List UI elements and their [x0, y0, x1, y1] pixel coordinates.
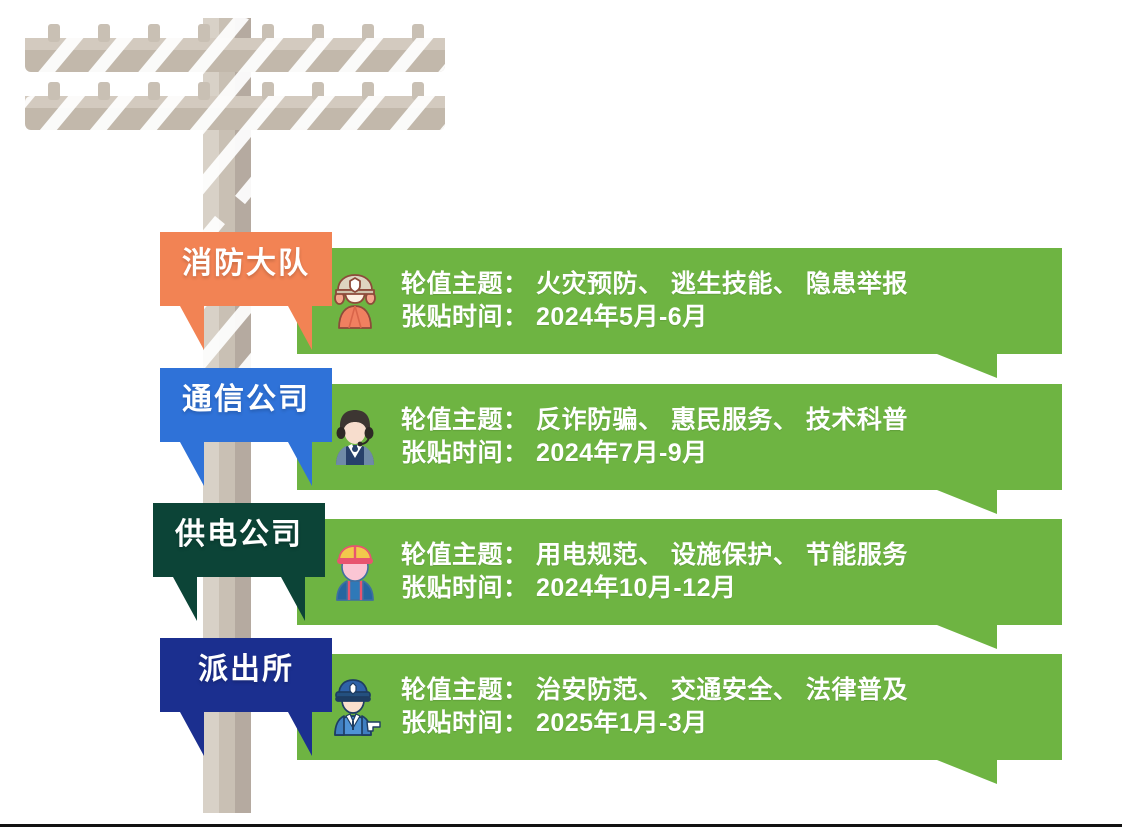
- org-tag-1[interactable]: 消防大队: [160, 232, 332, 362]
- org-tag-label-4: 派出所: [160, 648, 332, 692]
- org-tag-4[interactable]: 派出所: [160, 638, 332, 768]
- call-center-operator-icon: [327, 408, 383, 466]
- banner-text: 轮值主题： 治安防范、 交通安全、 法律普及 张贴时间： 2025年1月-3月: [401, 674, 908, 740]
- banner-content: 轮值主题： 反诈防骗、 惠民服务、 技术科普 张贴时间： 2024年7月-9月: [327, 384, 908, 490]
- org-tag-label-1: 消防大队: [160, 242, 332, 286]
- schedule-row-3: 轮值主题： 用电规范、 设施保护、 节能服务 张贴时间： 2024年10月-12…: [0, 503, 1122, 643]
- theme-line: 轮值主题： 治安防范、 交通安全、 法律普及: [401, 674, 908, 707]
- firefighter-icon: [327, 272, 383, 330]
- time-line: 张贴时间： 2024年7月-9月: [401, 437, 908, 470]
- banner-content: 轮值主题： 治安防范、 交通安全、 法律普及 张贴时间： 2025年1月-3月: [327, 654, 908, 760]
- electrician-worker-icon: [327, 543, 383, 601]
- theme-line: 轮值主题： 火灾预防、 逃生技能、 隐患举报: [401, 268, 908, 301]
- time-line: 张贴时间： 2024年10月-12月: [401, 572, 908, 605]
- police-officer-icon-slot: [327, 678, 383, 736]
- schedule-row-2: 轮值主题： 反诈防骗、 惠民服务、 技术科普 张贴时间： 2024年7月-9月 …: [0, 368, 1122, 508]
- banner-text: 轮值主题： 用电规范、 设施保护、 节能服务 张贴时间： 2024年10月-12…: [401, 539, 908, 605]
- green-banner: 轮值主题： 治安防范、 交通安全、 法律普及 张贴时间： 2025年1月-3月: [297, 654, 1122, 760]
- green-banner: 轮值主题： 火灾预防、 逃生技能、 隐患举报 张贴时间： 2024年5月-6月: [297, 248, 1122, 354]
- time-line: 张贴时间： 2025年1月-3月: [401, 707, 908, 740]
- call-center-operator-icon-slot: [327, 408, 383, 466]
- banner-text: 轮值主题： 反诈防骗、 惠民服务、 技术科普 张贴时间： 2024年7月-9月: [401, 404, 908, 470]
- police-officer-icon: [327, 678, 385, 736]
- firefighter-icon-slot: [327, 272, 383, 330]
- electrician-worker-icon-slot: [327, 543, 383, 601]
- theme-line: 轮值主题： 用电规范、 设施保护、 节能服务: [401, 539, 908, 572]
- schedule-row-4: 轮值主题： 治安防范、 交通安全、 法律普及 张贴时间： 2025年1月-3月 …: [0, 638, 1122, 778]
- time-line: 张贴时间： 2024年5月-6月: [401, 301, 908, 334]
- banner-text: 轮值主题： 火灾预防、 逃生技能、 隐患举报 张贴时间： 2024年5月-6月: [401, 268, 908, 334]
- green-banner: 轮值主题： 用电规范、 设施保护、 节能服务 张贴时间： 2024年10月-12…: [297, 519, 1122, 625]
- schedule-row-1: 轮值主题： 火灾预防、 逃生技能、 隐患举报 张贴时间： 2024年5月-6月 …: [0, 232, 1122, 372]
- banner-content: 轮值主题： 火灾预防、 逃生技能、 隐患举报 张贴时间： 2024年5月-6月: [327, 248, 908, 354]
- theme-line: 轮值主题： 反诈防骗、 惠民服务、 技术科普: [401, 404, 908, 437]
- banner-content: 轮值主题： 用电规范、 设施保护、 节能服务 张贴时间： 2024年10月-12…: [327, 519, 908, 625]
- infographic-canvas: 轮值主题： 火灾预防、 逃生技能、 隐患举报 张贴时间： 2024年5月-6月 …: [0, 0, 1122, 824]
- green-banner: 轮值主题： 反诈防骗、 惠民服务、 技术科普 张贴时间： 2024年7月-9月: [297, 384, 1122, 490]
- org-tag-3[interactable]: 供电公司: [153, 503, 325, 633]
- org-tag-label-3: 供电公司: [153, 513, 325, 557]
- org-tag-label-2: 通信公司: [160, 378, 332, 422]
- org-tag-2[interactable]: 通信公司: [160, 368, 332, 498]
